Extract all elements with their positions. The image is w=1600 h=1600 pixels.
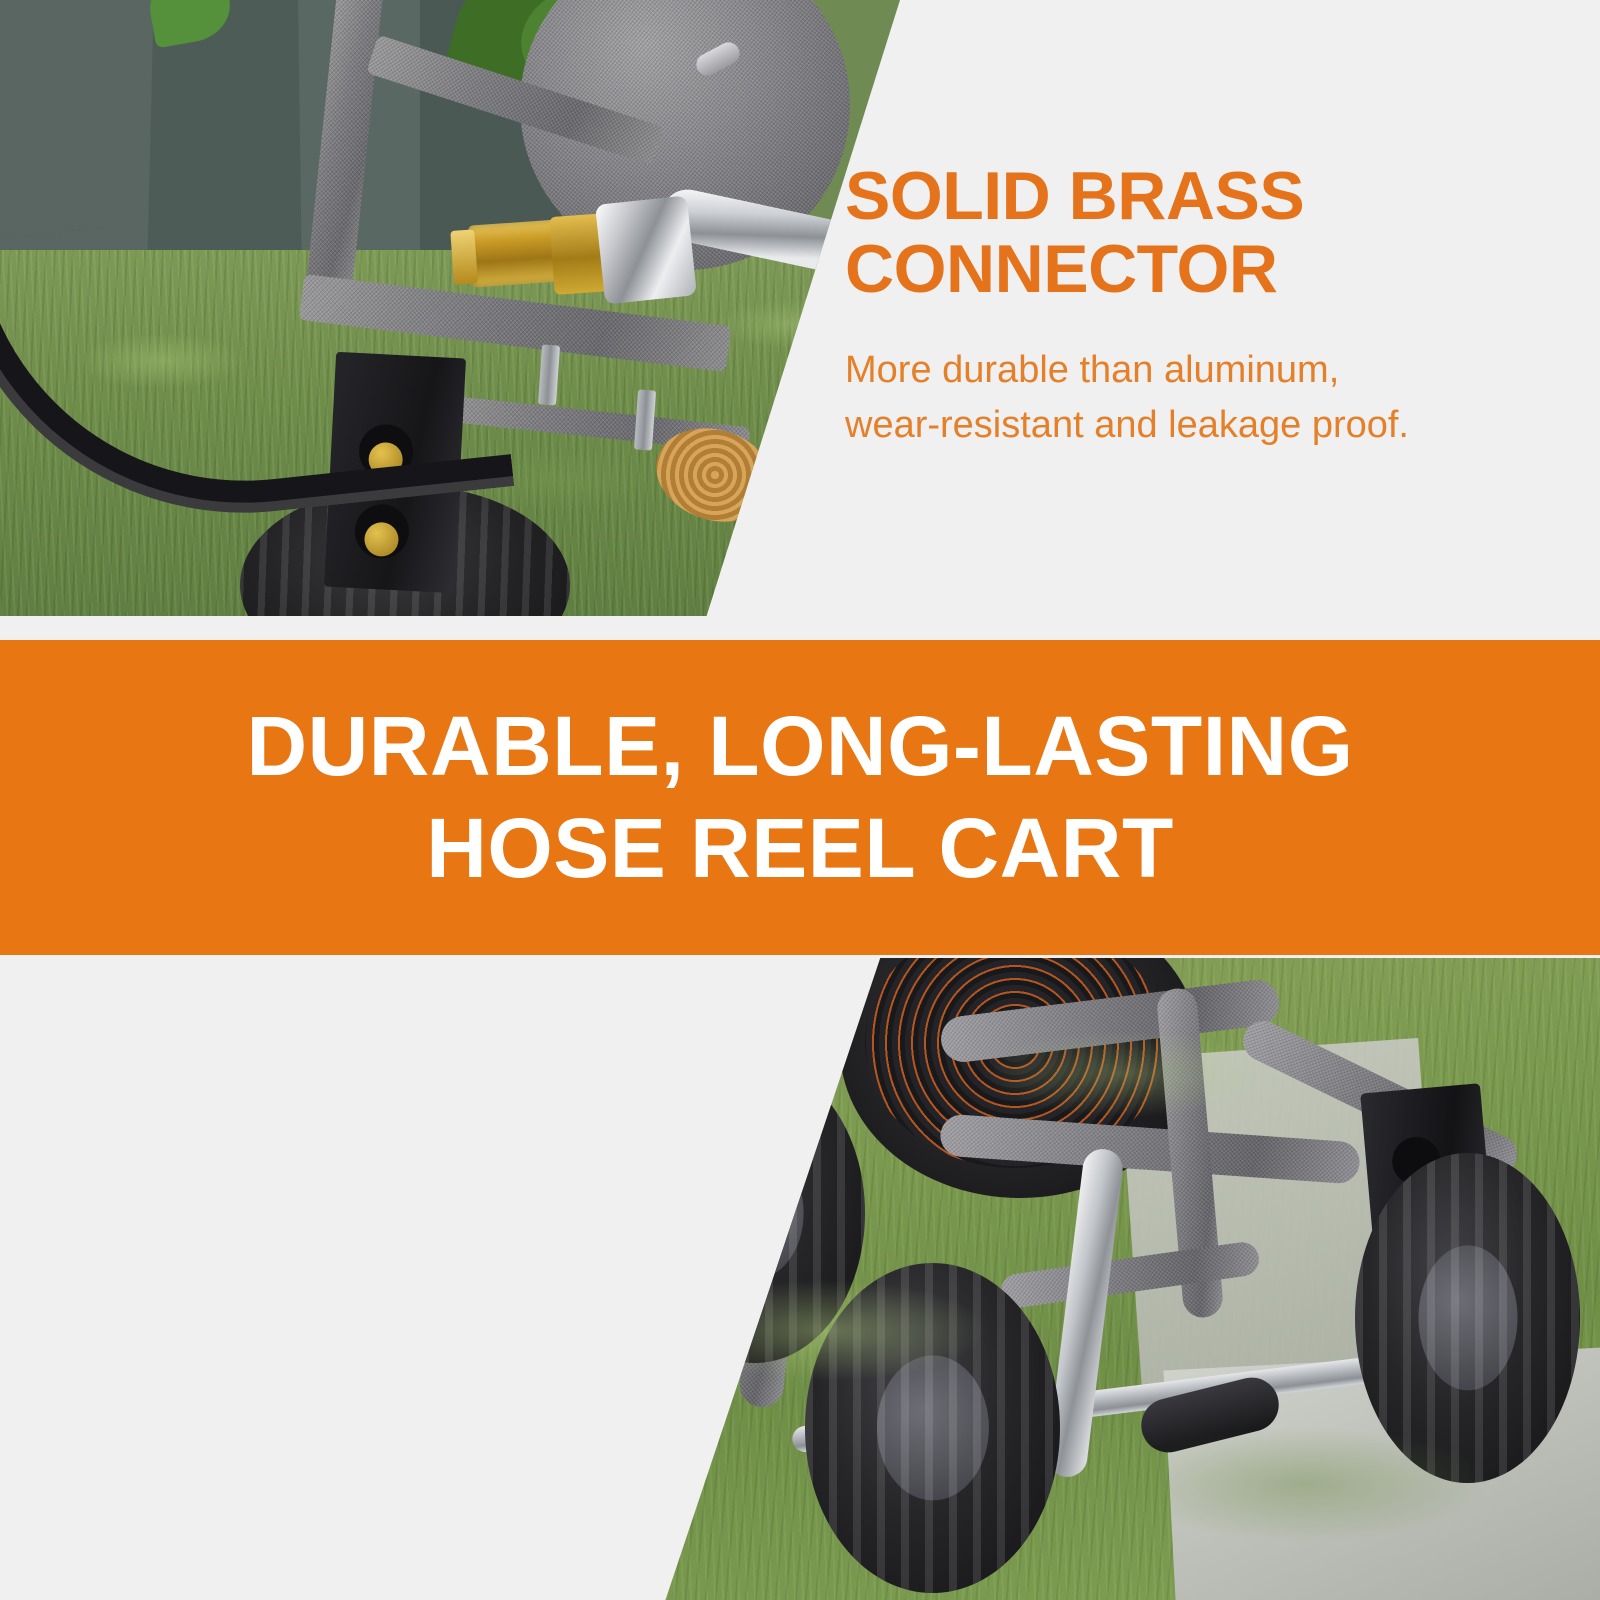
hose-reel-drum — [840, 958, 1200, 1198]
person-shoe — [660, 1137, 855, 1254]
banner-line-2: HOSE REEL CART — [426, 800, 1174, 897]
cart-frame-tube — [999, 1240, 1261, 1310]
feature-body: More durable than aluminum, wear-resista… — [845, 343, 1545, 454]
black-mounting-bracket — [1360, 1083, 1500, 1323]
banner-line-1: DURABLE, LONG-LASTING — [246, 698, 1353, 795]
concrete-paver — [1164, 1346, 1600, 1600]
cart-frame-tube — [938, 977, 1281, 1064]
chrome-elbow-fitting — [595, 195, 697, 304]
tire-rim — [707, 1147, 804, 1279]
photo-scene-lawn — [610, 958, 1600, 1600]
cart-axle-bar — [791, 1348, 1439, 1453]
cart-tire — [1355, 1153, 1580, 1483]
bracket-hole — [1390, 1135, 1442, 1187]
feature-body-line1: More durable than aluminum, — [845, 349, 1339, 391]
feature-heading-line1: SOLID BRASS — [845, 158, 1304, 234]
photo-scene-garden — [0, 0, 900, 616]
feature-text-brass-connector: SOLID BRASS CONNECTOR More durable than … — [845, 160, 1545, 454]
feature-heading-line2: CONNECTOR — [845, 231, 1278, 307]
cart-tire — [645, 1063, 865, 1363]
feature-panel-tires: SOLID EXPLOSION- PROOF TIRES Roll smooth… — [0, 958, 1600, 1600]
feature-body-line2: wear-resistant and leakage proof. — [845, 404, 1409, 446]
cart-frame-tube — [939, 1113, 1361, 1184]
tire-rim — [1418, 1245, 1517, 1390]
product-feature-graphic: SOLID BRASS CONNECTOR More durable than … — [0, 0, 1600, 1600]
handle-grip — [1136, 1372, 1285, 1458]
headline-banner: DURABLE, LONG-LASTING HOSE REEL CART — [0, 640, 1600, 955]
cart-frame-tube — [1156, 987, 1225, 1319]
coiled-hose-on-reel — [865, 958, 1165, 1168]
feature-photo-tires — [610, 958, 1600, 1600]
cart-frame-tube — [738, 977, 827, 1409]
feature-heading: SOLID BRASS CONNECTOR — [845, 160, 1545, 307]
cart-frame-tube — [1236, 1014, 1523, 1181]
feature-panel-brass-connector: SOLID BRASS CONNECTOR More durable than … — [0, 0, 1600, 616]
feature-photo-brass-connector — [0, 0, 900, 616]
concrete-paver — [1119, 1038, 1441, 1388]
cart-tire — [805, 1263, 1060, 1593]
person-leg — [642, 958, 808, 1183]
tire-rim — [876, 1355, 988, 1500]
bracket-hole — [1397, 1211, 1449, 1263]
chrome-handle — [1045, 1147, 1125, 1479]
